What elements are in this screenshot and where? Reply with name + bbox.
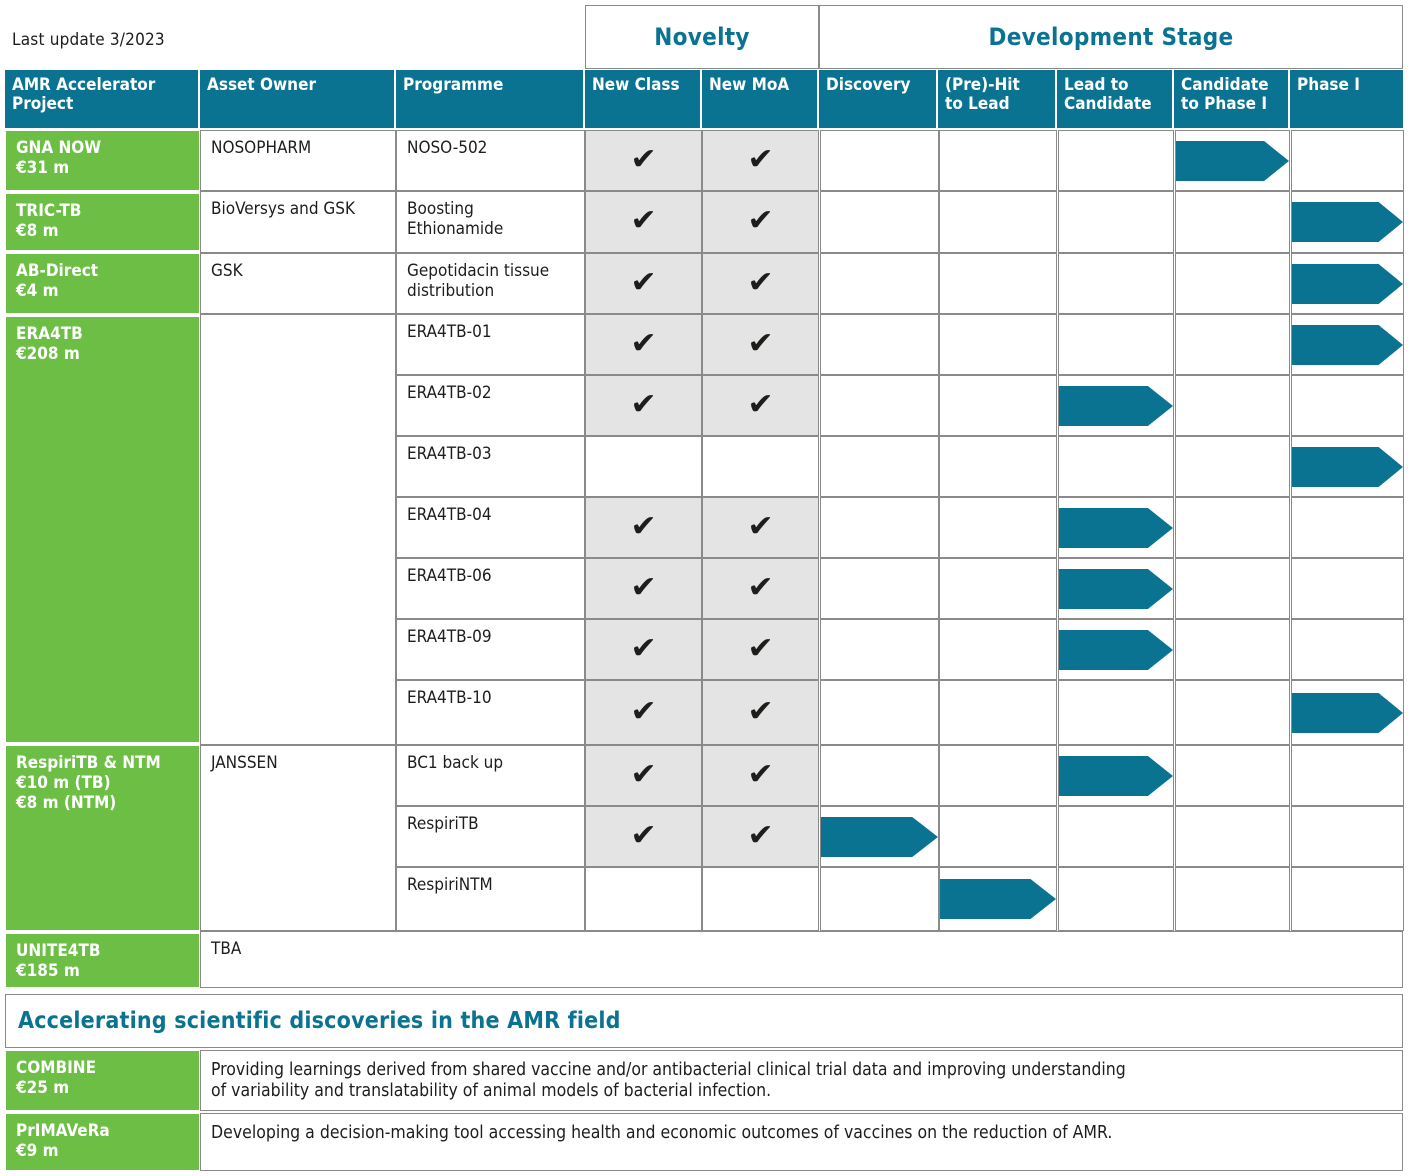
column-header-lead-line2: Candidate: [1064, 95, 1165, 114]
novelty-cell-new-class: ✔: [585, 130, 702, 191]
novelty-cell-new-class: ✔: [585, 253, 702, 314]
novelty-cell-new-moa: ✔: [702, 558, 819, 619]
novelty-cell-new-class: ✔: [585, 680, 702, 745]
column-header-project: AMR Accelerator Project: [5, 70, 200, 128]
stage-arrow-phase1: [1292, 693, 1403, 733]
programme-line1: BC1 back up: [407, 753, 576, 773]
stage-cell-prehit-to-lead: [939, 680, 1057, 745]
stage-cell-candidate-to-phase1: [1175, 253, 1290, 314]
check-icon: ✔: [703, 807, 818, 866]
check-icon: ✔: [586, 131, 701, 190]
novelty-cell-new-moa: [702, 436, 819, 497]
stage-cell-phase1: [1291, 558, 1404, 619]
check-icon: ✔: [586, 254, 701, 313]
stage-arrow-phase1: [1292, 202, 1403, 242]
novelty-cell-new-class: ✔: [585, 375, 702, 436]
column-header-prehit-line1: (Pre)-Hit: [945, 76, 1048, 95]
asset-owner-cell-gsk: GSK: [200, 253, 396, 314]
asset-owner-cell-bioversys-gsk: BioVersys and GSK: [200, 191, 396, 253]
check-icon: ✔: [586, 620, 701, 679]
novelty-cell-new-moa: ✔: [702, 253, 819, 314]
column-header-project-line1: AMR Accelerator: [12, 76, 191, 95]
arrow-icon: [1292, 202, 1403, 242]
stage-arrow-lead-to-candidate: [1059, 630, 1173, 670]
check-icon: ✔: [586, 746, 701, 805]
desc-line1: Providing learnings derived from shared …: [211, 1060, 1392, 1081]
check-icon: ✔: [586, 192, 701, 252]
stage-cell-candidate-to-phase1: [1175, 558, 1290, 619]
stage-cell-candidate-to-phase1: [1175, 314, 1290, 375]
project-name: RespiriTB & NTM: [16, 753, 191, 773]
stage-cell-lead-to-candidate: [1058, 806, 1174, 867]
project-cell-respiritb-ntm: RespiriTB & NTM €10 m (TB) €8 m (NTM): [5, 745, 200, 931]
stage-arrow-lead-to-candidate: [1059, 569, 1173, 609]
novelty-cell-new-class: ✔: [585, 619, 702, 680]
novelty-cell-new-class: [585, 867, 702, 931]
stage-cell-prehit-to-lead: [939, 314, 1057, 375]
novelty-cell-new-moa: ✔: [702, 806, 819, 867]
group-header-development-stage: Development Stage: [819, 5, 1403, 69]
programme-cell: Gepotidacin tissuedistribution: [396, 253, 585, 314]
check-icon: ✔: [703, 559, 818, 618]
check-icon: ✔: [703, 254, 818, 313]
programme-cell: RespiriTB: [396, 806, 585, 867]
section-heading-accelerating-discoveries: Accelerating scientific discoveries in t…: [5, 994, 1403, 1048]
stage-cell-prehit-to-lead: [939, 497, 1057, 558]
project-budget: €10 m (TB): [16, 773, 191, 793]
check-icon: ✔: [703, 620, 818, 679]
stage-cell-candidate-to-phase1: [1175, 436, 1290, 497]
programme-line1: Gepotidacin tissue: [407, 261, 576, 281]
column-header-candidate-line2: to Phase I: [1181, 95, 1281, 114]
asset-owner-cell-era4tb-blank: [200, 314, 396, 745]
project-cell-tric-tb: TRIC-TB €8 m: [5, 193, 200, 251]
programme-line1: RespiriTB: [407, 814, 576, 834]
stage-arrow-phase1: [1292, 447, 1403, 487]
stage-cell-prehit-to-lead: [939, 191, 1057, 253]
project-cell-ab-direct: AB-Direct €4 m: [5, 253, 200, 314]
stage-cell-lead-to-candidate: [1058, 191, 1174, 253]
novelty-cell-new-class: ✔: [585, 806, 702, 867]
project-budget: €8 m: [16, 221, 191, 241]
novelty-cell-new-moa: [702, 867, 819, 931]
programme-line1: NOSO-502: [407, 138, 576, 158]
arrow-icon: [1292, 693, 1403, 733]
project-name: GNA NOW: [16, 138, 191, 158]
check-icon: ✔: [703, 746, 818, 805]
stage-cell-prehit-to-lead: [939, 436, 1057, 497]
stage-cell-candidate-to-phase1: [1175, 867, 1290, 931]
stage-arrow-lead-to-candidate: [1059, 386, 1173, 426]
project-cell-era4tb: ERA4TB €208 m: [5, 316, 200, 743]
programme-line1: ERA4TB-03: [407, 444, 576, 464]
arrow-icon: [1292, 325, 1403, 365]
stage-cell-phase1: [1291, 867, 1404, 931]
check-icon: ✔: [703, 192, 818, 252]
programme-line1: RespiriNTM: [407, 875, 576, 895]
novelty-cell-new-class: [585, 436, 702, 497]
programme-line1: ERA4TB-06: [407, 566, 576, 586]
novelty-cell-new-moa: ✔: [702, 314, 819, 375]
stage-cell-prehit-to-lead: [939, 558, 1057, 619]
novelty-cell-new-class: ✔: [585, 558, 702, 619]
check-icon: ✔: [586, 681, 701, 744]
stage-cell-discovery: [820, 867, 939, 931]
stage-cell-candidate-to-phase1: [1175, 191, 1290, 253]
section-description-primavera: Developing a decision-making tool access…: [200, 1113, 1403, 1171]
stage-cell-candidate-to-phase1: [1175, 375, 1290, 436]
stage-cell-lead-to-candidate: [1058, 680, 1174, 745]
programme-cell: BC1 back up: [396, 745, 585, 806]
column-header-lead-to-candidate: Lead to Candidate: [1057, 70, 1174, 128]
arrow-icon: [1059, 630, 1173, 670]
stage-cell-prehit-to-lead: [939, 806, 1057, 867]
stage-cell-discovery: [820, 436, 939, 497]
novelty-cell-new-moa: ✔: [702, 680, 819, 745]
project-cell-gna-now: GNA NOW €31 m: [5, 130, 200, 191]
stage-arrow-phase1: [1292, 325, 1403, 365]
stage-cell-prehit-to-lead: [939, 375, 1057, 436]
project-name: ERA4TB: [16, 324, 191, 344]
project-budget: €25 m: [16, 1078, 191, 1098]
novelty-cell-new-moa: ✔: [702, 745, 819, 806]
section-description-combine: Providing learnings derived from shared …: [200, 1050, 1403, 1111]
project-name: UNITE4TB: [16, 941, 191, 961]
last-update-label: Last update 3/2023: [12, 30, 165, 50]
check-icon: ✔: [703, 681, 818, 744]
stage-cell-discovery: [820, 745, 939, 806]
stage-arrow-discovery: [821, 817, 938, 857]
column-header-new-class: New Class: [585, 70, 702, 128]
check-icon: ✔: [586, 315, 701, 374]
check-icon: ✔: [586, 559, 701, 618]
check-icon: ✔: [703, 131, 818, 190]
group-header-novelty: Novelty: [585, 5, 819, 69]
stage-cell-discovery: [820, 253, 939, 314]
project-name: PrIMAVeRa: [16, 1121, 191, 1141]
stage-cell-prehit-to-lead: [939, 130, 1057, 191]
programme-cell: BoostingEthionamide: [396, 191, 585, 253]
check-icon: ✔: [586, 376, 701, 435]
project-budget: €31 m: [16, 158, 191, 178]
column-header-prehit-to-lead: (Pre)-Hit to Lead: [938, 70, 1057, 128]
stage-cell-discovery: [820, 191, 939, 253]
amr-accelerator-portfolio-table: Last update 3/2023 Novelty Development S…: [0, 0, 1408, 1176]
column-header-candidate-line1: Candidate: [1181, 76, 1281, 95]
programme-cell: ERA4TB-01: [396, 314, 585, 375]
stage-cell-phase1: [1291, 375, 1404, 436]
project-budget-secondary: €8 m (NTM): [16, 793, 191, 813]
stage-cell-lead-to-candidate: [1058, 436, 1174, 497]
arrow-icon: [940, 879, 1056, 919]
novelty-cell-new-moa: ✔: [702, 191, 819, 253]
novelty-cell-new-class: ✔: [585, 314, 702, 375]
project-name: COMBINE: [16, 1058, 191, 1078]
programme-cell: ERA4TB-02: [396, 375, 585, 436]
programme-line1: ERA4TB-02: [407, 383, 576, 403]
arrow-icon: [1059, 386, 1173, 426]
stage-cell-candidate-to-phase1: [1175, 806, 1290, 867]
programme-cell: ERA4TB-09: [396, 619, 585, 680]
novelty-cell-new-moa: ✔: [702, 497, 819, 558]
stage-cell-discovery: [820, 619, 939, 680]
programme-line1: ERA4TB-04: [407, 505, 576, 525]
stage-arrow-lead-to-candidate: [1059, 756, 1173, 796]
project-name: TRIC-TB: [16, 201, 191, 221]
novelty-cell-new-moa: ✔: [702, 619, 819, 680]
novelty-cell-new-class: ✔: [585, 497, 702, 558]
column-header-prehit-line2: to Lead: [945, 95, 1048, 114]
arrow-icon: [1292, 447, 1403, 487]
novelty-cell-new-class: ✔: [585, 745, 702, 806]
arrow-icon: [1292, 264, 1403, 304]
section-project-cell-primavera: PrIMAVeRa €9 m: [5, 1113, 200, 1171]
project-cell-unite4tb: UNITE4TB €185 m: [5, 933, 200, 988]
stage-cell-prehit-to-lead: [939, 253, 1057, 314]
stage-cell-candidate-to-phase1: [1175, 497, 1290, 558]
desc-line2: of variability and translatability of an…: [211, 1081, 1392, 1102]
stage-cell-prehit-to-lead: [939, 619, 1057, 680]
stage-cell-phase1: [1291, 130, 1404, 191]
project-budget: €4 m: [16, 281, 191, 301]
project-budget: €9 m: [16, 1141, 191, 1161]
stage-arrow-phase1: [1292, 264, 1403, 304]
arrow-icon: [1059, 508, 1173, 548]
check-icon: ✔: [703, 315, 818, 374]
project-budget: €185 m: [16, 961, 191, 981]
stage-cell-discovery: [820, 130, 939, 191]
column-header-discovery: Discovery: [819, 70, 938, 128]
stage-cell-lead-to-candidate: [1058, 867, 1174, 931]
column-header-candidate-to-phase1: Candidate to Phase I: [1174, 70, 1290, 128]
novelty-cell-new-moa: ✔: [702, 130, 819, 191]
stage-cell-phase1: [1291, 497, 1404, 558]
programme-cell: ERA4TB-10: [396, 680, 585, 745]
arrow-icon: [821, 817, 938, 857]
programme-cell: RespiriNTM: [396, 867, 585, 931]
stage-cell-candidate-to-phase1: [1175, 745, 1290, 806]
column-header-project-line2: Project: [12, 95, 191, 114]
column-header-new-moa: New MoA: [702, 70, 819, 128]
section-project-cell-combine: COMBINE €25 m: [5, 1050, 200, 1111]
stage-cell-phase1: [1291, 745, 1404, 806]
check-icon: ✔: [586, 807, 701, 866]
programme-cell: ERA4TB-06: [396, 558, 585, 619]
check-icon: ✔: [586, 498, 701, 557]
desc-line1: Developing a decision-making tool access…: [211, 1123, 1392, 1144]
stage-cell-lead-to-candidate: [1058, 130, 1174, 191]
programme-line1: Boosting: [407, 199, 576, 219]
novelty-cell-new-class: ✔: [585, 191, 702, 253]
check-icon: ✔: [703, 498, 818, 557]
column-header-lead-line1: Lead to: [1064, 76, 1165, 95]
project-name: AB-Direct: [16, 261, 191, 281]
stage-arrow-candidate-to-phase1: [1176, 141, 1289, 181]
stage-cell-discovery: [820, 375, 939, 436]
programme-line1: ERA4TB-01: [407, 322, 576, 342]
arrow-icon: [1059, 569, 1173, 609]
programme-line2: distribution: [407, 281, 576, 301]
column-header-programme: Programme: [396, 70, 585, 128]
stage-arrow-lead-to-candidate: [1059, 508, 1173, 548]
column-header-phase1: Phase I: [1290, 70, 1403, 128]
stage-cell-candidate-to-phase1: [1175, 680, 1290, 745]
asset-owner-cell-tba: TBA: [200, 931, 1403, 988]
programme-cell: ERA4TB-04: [396, 497, 585, 558]
stage-cell-discovery: [820, 314, 939, 375]
asset-owner-cell-janssen: JANSSEN: [200, 745, 396, 931]
stage-cell-phase1: [1291, 806, 1404, 867]
arrow-icon: [1059, 756, 1173, 796]
column-header-asset-owner: Asset Owner: [200, 70, 396, 128]
stage-cell-lead-to-candidate: [1058, 253, 1174, 314]
stage-cell-discovery: [820, 680, 939, 745]
stage-arrow-prehit-to-lead: [940, 879, 1056, 919]
programme-line1: ERA4TB-10: [407, 688, 576, 708]
stage-cell-discovery: [820, 497, 939, 558]
stage-cell-phase1: [1291, 619, 1404, 680]
check-icon: ✔: [703, 376, 818, 435]
stage-cell-lead-to-candidate: [1058, 314, 1174, 375]
stage-cell-prehit-to-lead: [939, 745, 1057, 806]
stage-cell-discovery: [820, 558, 939, 619]
asset-owner-cell-nosopharm: NOSOPHARM: [200, 130, 396, 191]
programme-line1: ERA4TB-09: [407, 627, 576, 647]
arrow-icon: [1176, 141, 1289, 181]
project-budget: €208 m: [16, 344, 191, 364]
stage-cell-candidate-to-phase1: [1175, 619, 1290, 680]
programme-cell: ERA4TB-03: [396, 436, 585, 497]
novelty-cell-new-moa: ✔: [702, 375, 819, 436]
programme-line2: Ethionamide: [407, 219, 576, 239]
programme-cell: NOSO-502: [396, 130, 585, 191]
